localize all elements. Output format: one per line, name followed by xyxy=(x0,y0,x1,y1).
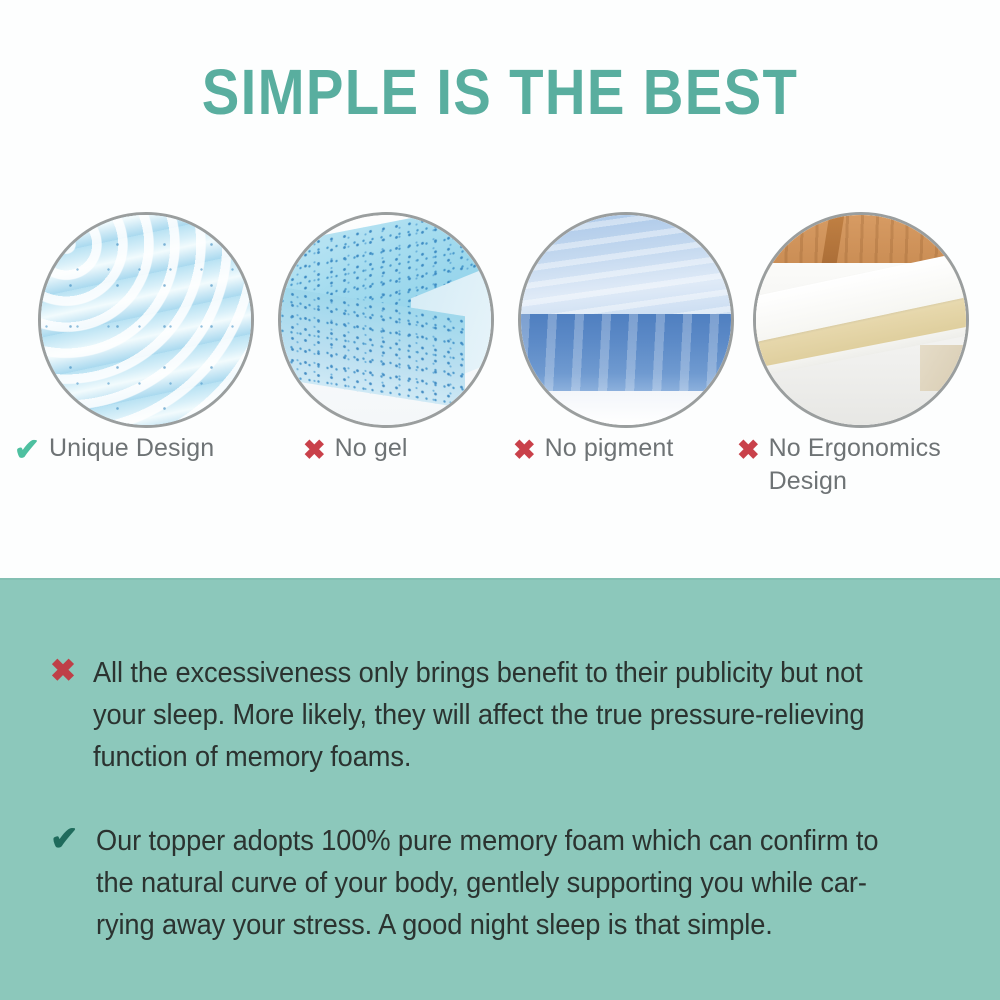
feature-label-text: Unique Design xyxy=(49,432,214,465)
description-panel: ✖ All the excessiveness only brings bene… xyxy=(0,578,1000,1000)
feature-image-unique-design xyxy=(38,212,254,428)
circle-frame xyxy=(38,212,254,428)
check-icon: ✔ xyxy=(50,820,79,858)
circle-frame xyxy=(753,212,969,428)
pigmented-blue-mattress-edge-photo xyxy=(521,215,731,425)
cross-icon: ✖ xyxy=(737,432,760,468)
floor-corner xyxy=(920,345,966,391)
feature-label-text: No pigment xyxy=(545,432,674,465)
wavy-egg-crate-blue-foam-photo xyxy=(41,215,251,425)
page-title: SIMPLE IS THE BEST xyxy=(60,60,940,124)
mattress-blue-pigment-body xyxy=(521,314,731,394)
infographic-page: SIMPLE IS THE BEST xyxy=(0,0,1000,1000)
bullet-line: rying away your stress. A good night sle… xyxy=(96,904,878,946)
circle-frame xyxy=(278,212,494,428)
bullet-line: your sleep. More likely, they will affec… xyxy=(93,694,864,736)
cross-icon: ✖ xyxy=(303,432,326,468)
bullet-text: Our topper adopts 100% pure memory foam … xyxy=(96,820,878,946)
mattress-white-base xyxy=(521,391,731,425)
bullet-line: the natural curve of your body, gentlely… xyxy=(96,862,878,904)
bullet-pure-memory-foam-benefit: ✔ Our topper adopts 100% pure memory foa… xyxy=(50,820,980,946)
feature-label-row: ✔ Unique Design ✖ No gel ✖ No pigment ✖ … xyxy=(0,432,1000,532)
bullet-line: function of memory foams. xyxy=(93,736,864,778)
cross-icon: ✖ xyxy=(513,432,536,468)
mattress-upper-surface xyxy=(521,215,731,316)
top-section: SIMPLE IS THE BEST xyxy=(0,0,1000,578)
feature-image-no-ergonomics-design xyxy=(753,212,969,428)
check-icon: ✔ xyxy=(14,432,40,468)
circle-frame xyxy=(518,212,734,428)
feature-label-no-ergonomics-design: ✖ No Ergonomics Design xyxy=(737,432,987,498)
feature-image-no-gel xyxy=(278,212,494,428)
bullet-excessiveness-drawback: ✖ All the excessiveness only brings bene… xyxy=(50,652,980,778)
feature-label-text: No gel xyxy=(335,432,408,465)
bullet-text: All the excessiveness only brings benefi… xyxy=(93,652,864,778)
cross-icon: ✖ xyxy=(50,652,76,690)
feature-label-no-gel: ✖ No gel xyxy=(303,432,533,468)
blue-speckled-gel-foam-block-photo xyxy=(281,215,491,425)
feature-label-unique-design: ✔ Unique Design xyxy=(14,432,264,468)
feature-circle-row xyxy=(0,212,1000,428)
bullet-line: Our topper adopts 100% pure memory foam … xyxy=(96,820,878,862)
feature-label-text: No Ergonomics Design xyxy=(769,432,987,498)
feature-label-no-pigment: ✖ No pigment xyxy=(513,432,743,468)
bullet-line: All the excessiveness only brings benefi… xyxy=(93,652,864,694)
feature-image-no-pigment xyxy=(518,212,734,428)
cream-foam-slab-on-bed-photo xyxy=(756,215,966,425)
